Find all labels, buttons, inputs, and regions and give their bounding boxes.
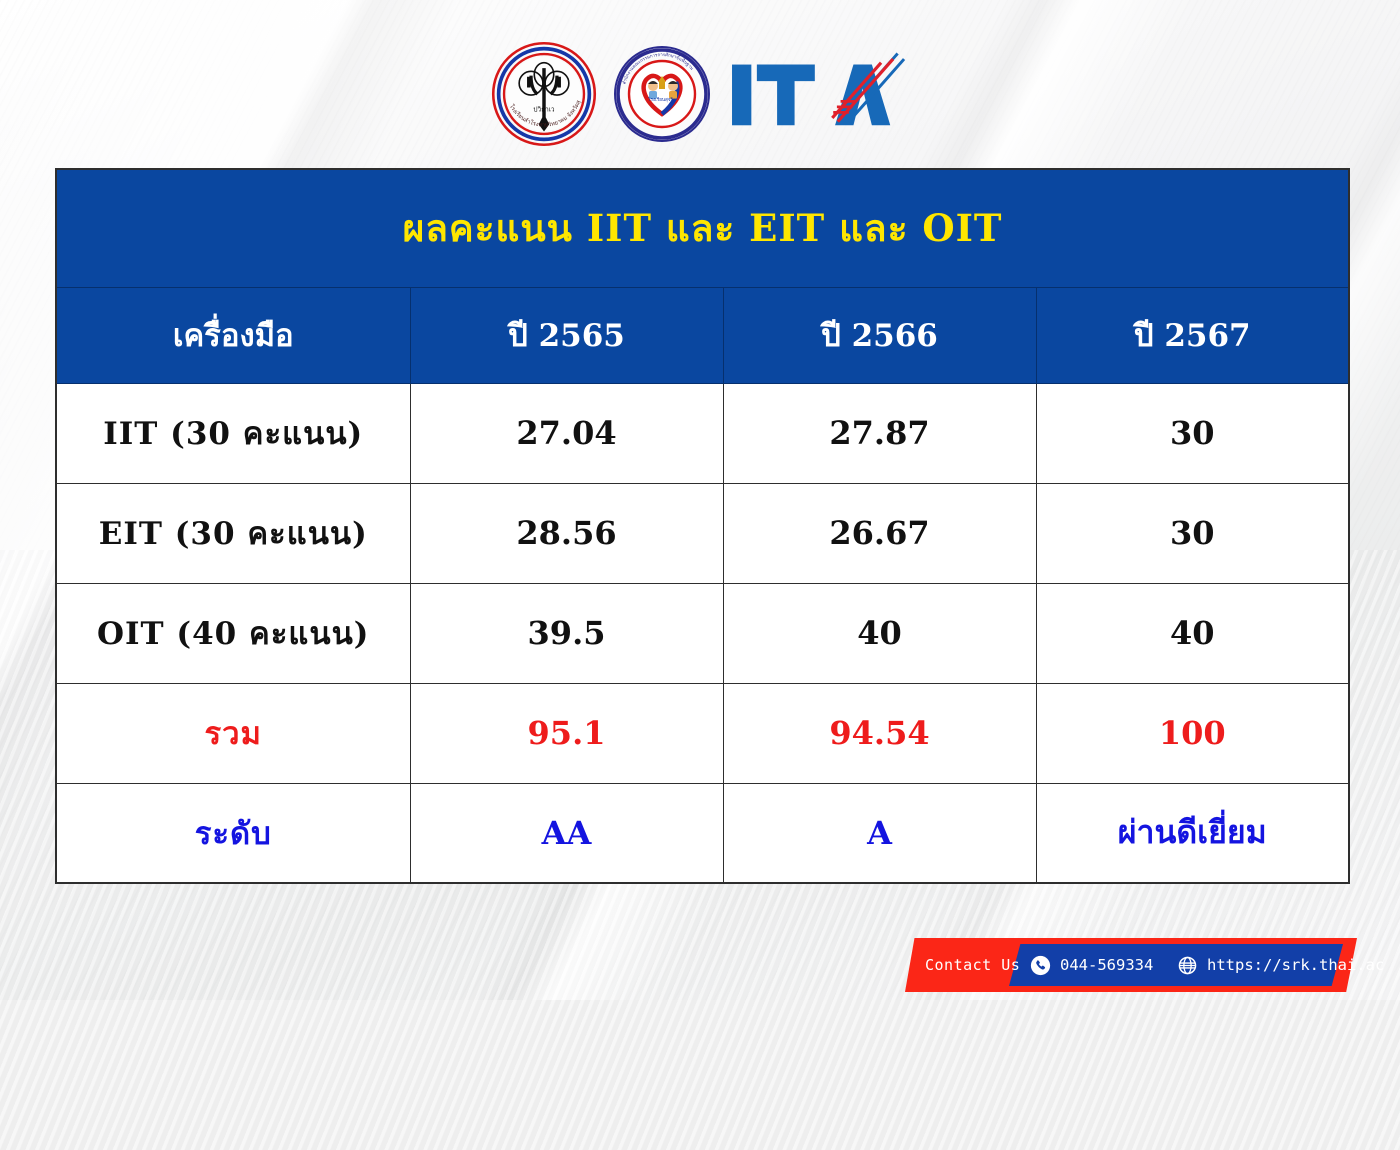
table-header-row: เครื่องมือ ปี 2565 ปี 2566 ปี 2567 — [56, 287, 1349, 383]
column-header-2567: ปี 2567 — [1036, 287, 1349, 383]
child-heart-emblem-icon: โรงเรียนสุจริต สำนักงานคณะกรรมการการศึกษ… — [612, 44, 712, 144]
table-row-eit: EIT (30 คะแนน) 28.56 26.67 30 — [56, 483, 1349, 583]
cell-iit-2565: 27.04 — [410, 383, 723, 483]
column-header-2565: ปี 2565 — [410, 287, 723, 383]
phone-icon — [1030, 955, 1051, 976]
row-label-eit: EIT (30 คะแนน) — [56, 483, 410, 583]
table-row-iit: IIT (30 คะแนน) 27.04 27.87 30 — [56, 383, 1349, 483]
column-header-tool: เครื่องมือ — [56, 287, 410, 383]
row-label-level: ระดับ — [56, 783, 410, 883]
contact-us-label: Contact Us — [925, 938, 1020, 992]
page-title: ผลคะแนน IIT และ EIT และ OIT — [56, 169, 1349, 287]
cell-eit-2566: 26.67 — [723, 483, 1036, 583]
contact-phone[interactable]: 044-569334 — [1030, 938, 1153, 992]
cell-oit-2565: 39.5 — [410, 583, 723, 683]
cell-eit-2565: 28.56 — [410, 483, 723, 583]
cell-level-2566: A — [723, 783, 1036, 883]
globe-icon — [1177, 955, 1198, 976]
svg-text:โรงเรียนสุจริต: โรงเรียนสุจริต — [648, 96, 676, 103]
logo-header: ปวิธาเว โรงเรียนสำโรงทาบวิทยาคม จังหวัดส… — [0, 34, 1400, 154]
cell-total-2566: 94.54 — [723, 683, 1036, 783]
school-emblem-icon: ปวิธาเว โรงเรียนสำโรงทาบวิทยาคม จังหวัดส… — [490, 40, 598, 148]
cell-iit-2567: 30 — [1036, 383, 1349, 483]
row-label-oit: OIT (40 คะแนน) — [56, 583, 410, 683]
cell-eit-2567: 30 — [1036, 483, 1349, 583]
cell-oit-2566: 40 — [723, 583, 1036, 683]
contact-website[interactable]: https://srk.thai.ac — [1177, 938, 1384, 992]
cell-level-2565: AA — [410, 783, 723, 883]
row-label-iit: IIT (30 คะแนน) — [56, 383, 410, 483]
row-label-total: รวม — [56, 683, 410, 783]
score-table: ผลคะแนน IIT และ EIT และ OIT เครื่องมือ ป… — [55, 168, 1350, 884]
phone-number: 044-569334 — [1060, 956, 1153, 974]
ita-logo-icon — [726, 48, 911, 140]
svg-text:ปวิธาเว: ปวิธาเว — [533, 105, 555, 113]
column-header-2566: ปี 2566 — [723, 287, 1036, 383]
table-row-total: รวม 95.1 94.54 100 — [56, 683, 1349, 783]
cell-total-2567: 100 — [1036, 683, 1349, 783]
table-row-level: ระดับ AA A ผ่านดีเยี่ยม — [56, 783, 1349, 883]
table-row-oit: OIT (40 คะแนน) 39.5 40 40 — [56, 583, 1349, 683]
cell-total-2565: 95.1 — [410, 683, 723, 783]
table-title-row: ผลคะแนน IIT และ EIT และ OIT — [56, 169, 1349, 287]
cell-iit-2566: 27.87 — [723, 383, 1036, 483]
contact-bar: Contact Us 044-569334 https://srk.thai.a… — [905, 938, 1357, 992]
cell-oit-2567: 40 — [1036, 583, 1349, 683]
website-url: https://srk.thai.ac — [1207, 956, 1384, 974]
cell-level-2567: ผ่านดีเยี่ยม — [1036, 783, 1349, 883]
